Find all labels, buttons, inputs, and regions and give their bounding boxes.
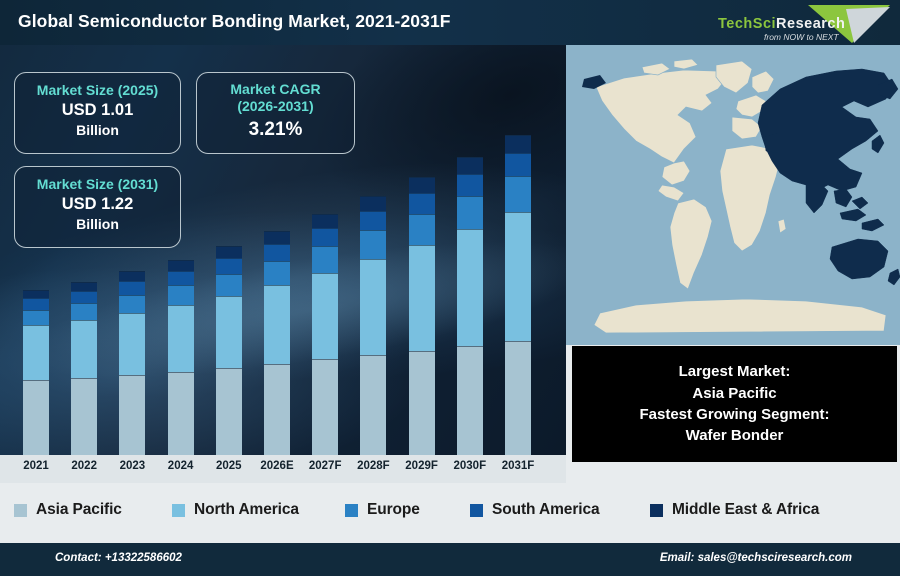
- bar-segment-europe-2025: [216, 274, 242, 296]
- bar-segment-middle-east-africa-2023: [119, 271, 145, 281]
- bar-segment-south-america-2024: [168, 271, 194, 285]
- bar-segment-middle-east-africa-2030F: [457, 157, 483, 174]
- logo-tagline: from NOW to NEXT: [764, 32, 839, 42]
- kpi-market-size-2025: Market Size (2025) USD 1.01 Billion: [14, 72, 181, 154]
- bar-segment-asia-pacific-2023: [119, 375, 145, 455]
- bar-2022: [71, 282, 97, 455]
- bar-2025: [216, 246, 242, 455]
- bar-segment-north-america-2025: [216, 296, 242, 368]
- chart-legend: Asia PacificNorth AmericaEuropeSouth Ame…: [0, 483, 900, 543]
- bar-segment-europe-2021: [23, 310, 49, 326]
- callout-line-2: Asia Pacific: [692, 383, 776, 404]
- bar-2024: [168, 260, 194, 455]
- bar-segment-south-america-2026E: [264, 244, 290, 261]
- bar-segment-south-america-2028F: [360, 211, 386, 231]
- techsci-research-logo: TechSciResearch from NOW to NEXT: [704, 2, 894, 45]
- bar-segment-middle-east-africa-2031F: [505, 135, 531, 153]
- x-axis-label-2031F: 2031F: [495, 460, 541, 472]
- bar-segment-north-america-2031F: [505, 212, 531, 341]
- bar-segment-asia-pacific-2029F: [409, 351, 435, 455]
- legend-item-south-america[interactable]: South America: [470, 501, 600, 519]
- bar-segment-middle-east-africa-2025: [216, 246, 242, 258]
- bar-2026E: [264, 231, 290, 455]
- bar-segment-middle-east-africa-2026E: [264, 231, 290, 244]
- bar-segment-europe-2031F: [505, 176, 531, 212]
- bar-segment-south-america-2021: [23, 298, 49, 309]
- kpi-value: USD 1.01: [15, 99, 180, 121]
- callout-line-3: Fastest Growing Segment:: [639, 404, 829, 425]
- bar-segment-south-america-2023: [119, 281, 145, 295]
- x-axis-label-2027F: 2027F: [302, 460, 348, 472]
- x-axis-label-2023: 2023: [109, 460, 155, 472]
- bar-segment-asia-pacific-2031F: [505, 341, 531, 455]
- bar-segment-asia-pacific-2022: [71, 378, 97, 455]
- x-axis-label-2025: 2025: [206, 460, 252, 472]
- bar-segment-europe-2024: [168, 285, 194, 305]
- bar-segment-south-america-2027F: [312, 228, 338, 246]
- bar-segment-europe-2022: [71, 303, 97, 320]
- kpi-unit: Billion: [15, 121, 180, 139]
- bar-segment-middle-east-africa-2029F: [409, 177, 435, 193]
- bar-segment-europe-2026E: [264, 261, 290, 285]
- bar-segment-north-america-2021: [23, 325, 49, 379]
- legend-swatch-icon: [470, 504, 483, 517]
- bar-segment-middle-east-africa-2022: [71, 282, 97, 291]
- bar-segment-north-america-2024: [168, 305, 194, 371]
- legend-swatch-icon: [650, 504, 663, 517]
- bar-2028F: [360, 196, 386, 455]
- kpi-label: Market Size (2025): [15, 82, 180, 99]
- legend-item-north-america[interactable]: North America: [172, 501, 299, 519]
- x-axis: 202120222023202420252026E2027F2028F2029F…: [0, 455, 566, 483]
- footer-bar: Contact: +13322586602 Email: sales@techs…: [0, 543, 900, 576]
- logo-wordmark: TechSciResearch: [718, 16, 845, 32]
- bar-segment-north-america-2023: [119, 313, 145, 374]
- kpi-market-cagr: Market CAGR (2026-2031) 3.21%: [196, 72, 355, 154]
- legend-label: North America: [194, 501, 299, 519]
- x-axis-label-2029F: 2029F: [399, 460, 445, 472]
- bar-2030F: [457, 157, 483, 455]
- kpi-label: Market Size (2031): [15, 176, 180, 193]
- bar-segment-south-america-2031F: [505, 153, 531, 177]
- x-axis-label-2021: 2021: [13, 460, 59, 472]
- bar-segment-europe-2029F: [409, 214, 435, 245]
- callout-box: Largest Market: Asia Pacific Fastest Gro…: [572, 346, 897, 462]
- legend-label: Asia Pacific: [36, 501, 122, 519]
- footer-contact: Contact: +13322586602: [55, 552, 182, 564]
- infographic-page: Global Semiconductor Bonding Market, 202…: [0, 0, 900, 576]
- world-map-svg: [566, 45, 900, 345]
- bar-segment-north-america-2028F: [360, 259, 386, 355]
- logo-brand-tech: TechSci: [718, 16, 776, 32]
- bar-segment-asia-pacific-2027F: [312, 359, 338, 454]
- bar-segment-middle-east-africa-2027F: [312, 214, 338, 228]
- legend-swatch-icon: [14, 504, 27, 517]
- kpi-value: 3.21%: [197, 117, 354, 143]
- bar-segment-europe-2027F: [312, 246, 338, 273]
- bar-segment-middle-east-africa-2024: [168, 260, 194, 271]
- bar-2029F: [409, 177, 435, 455]
- bar-segment-asia-pacific-2021: [23, 380, 49, 455]
- logo-brand-research: Research: [776, 16, 845, 32]
- bar-segment-south-america-2029F: [409, 193, 435, 214]
- callout-line-1: Largest Market:: [679, 361, 791, 382]
- x-axis-label-2030F: 2030F: [447, 460, 493, 472]
- x-axis-label-2022: 2022: [61, 460, 107, 472]
- header-bar: Global Semiconductor Bonding Market, 202…: [0, 0, 900, 45]
- bar-segment-europe-2023: [119, 295, 145, 314]
- bar-2023: [119, 271, 145, 455]
- legend-label: Europe: [367, 501, 420, 519]
- bar-segment-europe-2028F: [360, 230, 386, 259]
- bar-2027F: [312, 214, 338, 455]
- bar-segment-middle-east-africa-2028F: [360, 196, 386, 211]
- world-map: [566, 45, 900, 345]
- bar-segment-north-america-2030F: [457, 229, 483, 346]
- bar-segment-north-america-2026E: [264, 285, 290, 364]
- kpi-market-size-2031: Market Size (2031) USD 1.22 Billion: [14, 166, 181, 248]
- x-axis-label-2028F: 2028F: [350, 460, 396, 472]
- legend-item-europe[interactable]: Europe: [345, 501, 420, 519]
- kpi-label: Market CAGR: [197, 81, 354, 98]
- legend-item-middle-east-africa[interactable]: Middle East & Africa: [650, 501, 819, 519]
- kpi-value: USD 1.22: [15, 193, 180, 215]
- bar-segment-north-america-2027F: [312, 273, 338, 360]
- bar-segment-asia-pacific-2028F: [360, 355, 386, 455]
- bar-segment-north-america-2022: [71, 320, 97, 378]
- bar-segment-south-america-2025: [216, 258, 242, 274]
- footer-email: Email: sales@techsciresearch.com: [660, 552, 852, 564]
- kpi-label-2: (2026-2031): [197, 98, 354, 115]
- legend-label: Middle East & Africa: [672, 501, 819, 519]
- legend-item-asia-pacific[interactable]: Asia Pacific: [14, 501, 122, 519]
- bar-segment-south-america-2022: [71, 291, 97, 303]
- bar-segment-south-america-2030F: [457, 174, 483, 196]
- bar-segment-middle-east-africa-2021: [23, 290, 49, 298]
- kpi-unit: Billion: [15, 215, 180, 233]
- bar-segment-asia-pacific-2026E: [264, 364, 290, 455]
- bar-2031F: [505, 135, 531, 455]
- bar-segment-asia-pacific-2025: [216, 368, 242, 455]
- legend-swatch-icon: [172, 504, 185, 517]
- legend-swatch-icon: [345, 504, 358, 517]
- x-axis-label-2024: 2024: [158, 460, 204, 472]
- bar-segment-north-america-2029F: [409, 245, 435, 351]
- bar-2021: [23, 290, 49, 455]
- bar-segment-asia-pacific-2024: [168, 372, 194, 455]
- callout-line-4: Wafer Bonder: [686, 425, 784, 446]
- x-axis-label-2026E: 2026E: [254, 460, 300, 472]
- legend-label: South America: [492, 501, 600, 519]
- page-title: Global Semiconductor Bonding Market, 202…: [18, 11, 451, 32]
- bar-segment-asia-pacific-2030F: [457, 346, 483, 455]
- bar-segment-europe-2030F: [457, 196, 483, 229]
